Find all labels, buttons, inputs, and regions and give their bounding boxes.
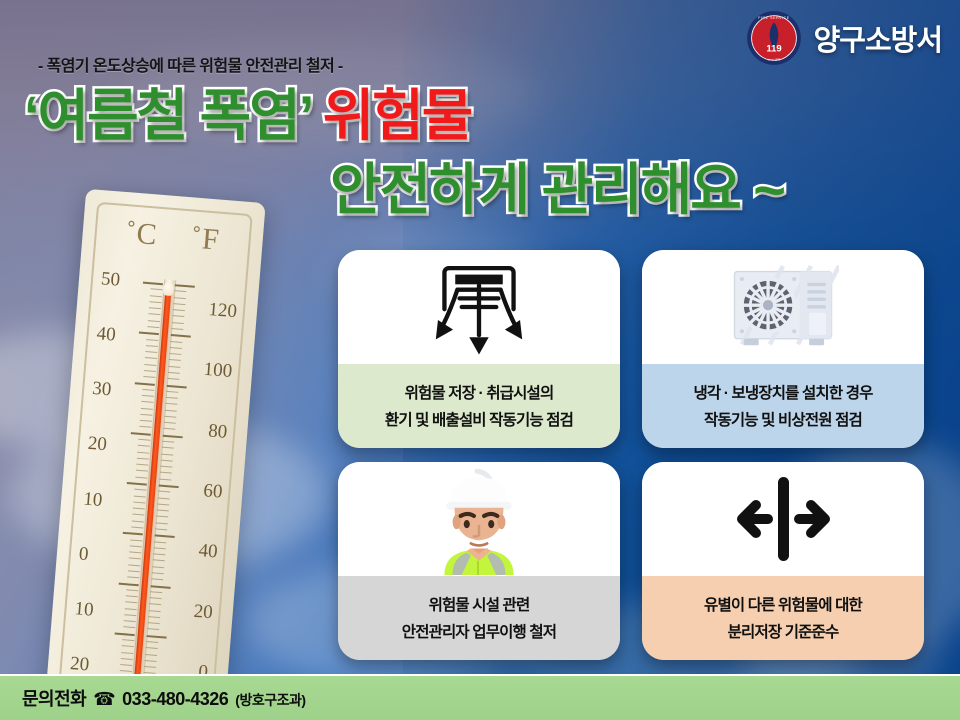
tick-mark [163, 434, 183, 438]
tick-mark [123, 532, 143, 536]
card-caption: 위험물 시설 관련 안전관리자 업무이행 철저 [338, 576, 620, 660]
air-conditioner-outdoor-unit-icon [727, 259, 839, 355]
tick-mark [130, 545, 142, 547]
celsius-tick-label: 40 [96, 323, 117, 346]
tick-mark [146, 339, 158, 341]
safety-worker-icon [427, 463, 531, 575]
tick-mark [166, 391, 178, 393]
svg-text:since 1975: since 1975 [767, 57, 780, 61]
tick-mark [126, 589, 138, 591]
tick-mark [169, 359, 181, 361]
tick-mark [142, 389, 154, 391]
contact-info: 문의전화 ☎ 033-480-4326 (방호구조과) [22, 685, 306, 711]
tick-mark [138, 439, 150, 441]
tick-mark [171, 334, 191, 338]
tick-mark [174, 290, 186, 292]
celsius-tick-label: 20 [69, 653, 90, 676]
tick-mark [170, 341, 182, 343]
tick-mark [130, 539, 142, 541]
tick-mark [148, 320, 160, 322]
title-green-segment: ‘여름철 폭염’ [24, 84, 311, 147]
tick-mark [120, 670, 132, 672]
tick-mark [149, 610, 161, 612]
contact-footer-bar: 문의전화 ☎ 033-480-4326 (방호구조과) [0, 674, 960, 720]
tick-mark [153, 560, 165, 562]
tick-mark [153, 553, 165, 555]
tick-mark [135, 476, 147, 478]
tick-mark [149, 307, 161, 309]
tick-mark [121, 652, 133, 654]
tick-mark [161, 453, 173, 455]
svg-text:119: 119 [766, 43, 781, 54]
tick-mark [150, 289, 162, 291]
tick-mark [146, 345, 158, 347]
tick-mark [147, 326, 159, 328]
contact-phone-number: 033-480-4326 [122, 689, 228, 710]
tick-mark [164, 416, 176, 418]
tick-mark [131, 526, 143, 528]
tick-mark [161, 460, 173, 462]
tick-mark [167, 384, 187, 388]
tick-mark [156, 522, 168, 524]
card-caption-line-2: 환기 및 배출설비 작동기능 점검 [385, 408, 573, 430]
tick-mark [121, 658, 133, 660]
tick-mark [156, 516, 168, 518]
card-icon-area [338, 462, 620, 576]
tick-mark [155, 535, 175, 539]
tick-mark [158, 497, 170, 499]
contact-label: 문의전화 [22, 685, 86, 711]
tick-mark [164, 422, 176, 424]
svg-text:FIRE SERVICE: FIRE SERVICE [758, 16, 790, 20]
tick-mark [133, 501, 145, 503]
tick-mark [127, 577, 139, 579]
tick-mark [168, 366, 180, 368]
tick-mark [146, 641, 158, 643]
tick-mark [128, 564, 140, 566]
ventilation-exhaust-icon [425, 253, 533, 361]
tick-mark [150, 591, 162, 593]
tick-mark [122, 645, 134, 647]
tick-mark [157, 503, 169, 505]
tick-mark [127, 482, 147, 486]
fahrenheit-tick-label: 100 [203, 359, 233, 383]
tick-mark [134, 489, 146, 491]
card-caption: 유별이 다른 위험물에 대한 분리저장 기준준수 [642, 576, 924, 660]
tick-mark [172, 316, 184, 318]
tick-mark [172, 322, 184, 324]
tick-mark [150, 597, 162, 599]
tick-mark [144, 364, 156, 366]
tick-mark [150, 295, 162, 297]
tick-mark [159, 485, 179, 489]
tick-mark [125, 602, 137, 604]
celsius-tick-label: 10 [83, 488, 104, 511]
fahrenheit-tick-label: 120 [208, 299, 238, 323]
tick-mark [134, 495, 146, 497]
poster-subtitle: - 폭염기 온도상승에 따른 위험물 안전관리 철저 - [38, 52, 343, 76]
poster-title-line-1: ‘여름철 폭염’ 위험물 [24, 88, 471, 144]
tick-mark [129, 551, 141, 553]
tick-mark [168, 372, 180, 374]
card-icon-area [642, 462, 924, 576]
tick-mark [145, 351, 157, 353]
celsius-tick-label: 0 [78, 543, 89, 566]
card-caption-line-2: 분리저장 기준준수 [728, 620, 839, 642]
title-green-segment-2: 안전하게 관리해요 ~ [330, 158, 784, 221]
tick-mark [154, 541, 166, 543]
card-caption: 위험물 저장 · 취급시설의 환기 및 배출설비 작동기능 점검 [338, 364, 620, 448]
celsius-tick-label: 30 [91, 378, 112, 401]
tick-mark [166, 397, 178, 399]
tick-mark [136, 470, 148, 472]
tick-mark [144, 370, 156, 372]
fire-service-badge-icon: 119 FIRE SERVICE since 1975 [746, 10, 802, 66]
tick-mark [171, 328, 183, 330]
tick-mark [160, 466, 172, 468]
fahrenheit-tick-label: 60 [203, 480, 224, 503]
tick-mark [148, 314, 160, 316]
tick-mark [165, 403, 177, 405]
tick-mark [145, 357, 157, 359]
contact-department: (방호구조과) [235, 690, 305, 710]
card-ventilation[interactable]: 위험물 저장 · 취급시설의 환기 및 배출설비 작동기능 점검 [338, 250, 620, 448]
tick-mark [141, 407, 153, 409]
poster-title-line-2: 안전하게 관리해요 ~ [330, 162, 784, 218]
celsius-tick-label: 50 [100, 268, 121, 291]
tick-mark [173, 309, 185, 311]
tick-mark [162, 441, 174, 443]
card-cooling-unit[interactable]: 냉각 · 보냉장치를 설치한 경우 작동기능 및 비상전원 점검 [642, 250, 924, 448]
tick-mark [142, 395, 154, 397]
card-caption-line-1: 냉각 · 보냉장치를 설치한 경우 [693, 381, 872, 403]
tick-mark [151, 585, 171, 589]
tick-mark [165, 409, 177, 411]
tick-mark [124, 614, 136, 616]
tick-mark [169, 353, 181, 355]
tick-mark [120, 664, 132, 666]
fahrenheit-tick-label: 40 [198, 540, 219, 563]
tick-mark [149, 604, 161, 606]
celsius-label: ˚C [124, 216, 159, 252]
celsius-tick-label: 20 [87, 433, 108, 456]
tick-mark [163, 428, 175, 430]
separation-arrows-icon [728, 468, 838, 570]
tick-mark [148, 616, 160, 618]
card-icon-area [642, 250, 924, 364]
header-logo-group: 119 FIRE SERVICE since 1975 양구소방서 [746, 10, 942, 66]
tick-mark [151, 578, 163, 580]
tick-mark [148, 622, 160, 624]
card-caption-line-2: 작동기능 및 비상전원 점검 [704, 408, 862, 430]
tick-mark [140, 414, 152, 416]
tick-mark [147, 629, 159, 631]
celsius-tick-label: 10 [74, 598, 95, 621]
card-caption-line-2: 안전관리자 업무이행 철저 [402, 620, 556, 642]
tick-mark [158, 491, 170, 493]
tick-mark [126, 595, 138, 597]
tick-mark [131, 432, 151, 436]
poster-root: ˚C ˚F 504030201001020 120100806040200 11… [0, 0, 960, 720]
tick-mark [139, 426, 151, 428]
tick-mark [145, 654, 157, 656]
fahrenheit-tick-label: 20 [193, 600, 214, 623]
tick-mark [133, 508, 145, 510]
card-icon-area [338, 250, 620, 364]
tick-mark [170, 347, 182, 349]
telephone-icon: ☎ [93, 689, 115, 710]
tick-mark [141, 401, 153, 403]
tick-mark [138, 445, 150, 447]
card-caption-line-1: 위험물 저장 · 취급시설의 [405, 381, 554, 403]
tick-mark [128, 570, 140, 572]
tick-mark [119, 582, 139, 586]
tick-mark [155, 528, 167, 530]
tick-mark [136, 464, 148, 466]
card-caption-line-1: 유별이 다른 위험물에 대한 [704, 593, 862, 615]
tick-mark [145, 660, 157, 662]
tick-mark [115, 632, 135, 636]
safety-tip-card-grid: 위험물 저장 · 취급시설의 환기 및 배출설비 작동기능 점검 [338, 250, 938, 668]
card-safety-manager[interactable]: 위험물 시설 관련 안전관리자 업무이행 철저 [338, 462, 620, 660]
tick-mark [154, 547, 166, 549]
tick-mark [167, 378, 179, 380]
fahrenheit-label: ˚F [190, 221, 221, 257]
tick-mark [135, 382, 155, 386]
organization-name: 양구소방서 [814, 17, 942, 59]
tick-mark [152, 566, 164, 568]
tick-mark [125, 608, 137, 610]
tick-mark [147, 635, 167, 639]
tick-mark [122, 639, 134, 641]
tick-mark [152, 572, 164, 574]
thermometer-mercury-top [163, 281, 174, 296]
tick-mark [123, 627, 135, 629]
tick-mark [132, 520, 144, 522]
tick-mark [137, 451, 149, 453]
tick-mark [160, 472, 172, 474]
fahrenheit-tick-label: 80 [207, 420, 228, 443]
tick-mark [159, 478, 171, 480]
tick-mark [149, 301, 161, 303]
tick-mark [129, 558, 141, 560]
tick-mark [143, 376, 155, 378]
tick-mark [132, 514, 144, 516]
tick-mark [175, 284, 195, 288]
card-separation-storage[interactable]: 유별이 다른 위험물에 대한 분리저장 기준준수 [642, 462, 924, 660]
card-caption: 냉각 · 보냉장치를 설치한 경우 작동기능 및 비상전원 점검 [642, 364, 924, 448]
tick-mark [173, 303, 185, 305]
tick-mark [162, 447, 174, 449]
title-red-segment: 위험물 [323, 84, 472, 147]
tick-mark [139, 332, 159, 336]
tick-mark [174, 297, 186, 299]
tick-mark [124, 620, 136, 622]
tick-mark [157, 510, 169, 512]
card-caption-line-1: 위험물 시설 관련 [429, 593, 530, 615]
tick-mark [144, 666, 156, 668]
tick-mark [137, 458, 149, 460]
tick-mark [140, 420, 152, 422]
tick-mark [143, 282, 163, 286]
tick-mark [146, 647, 158, 649]
